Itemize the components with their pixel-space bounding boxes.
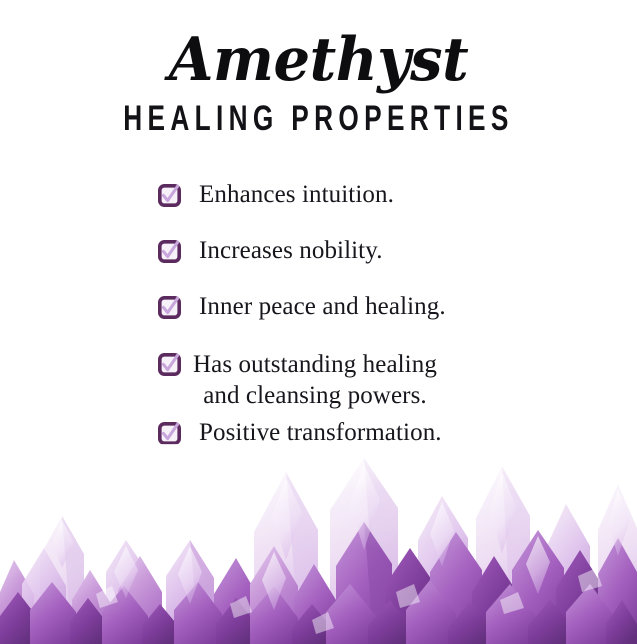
checked-checkbox-icon xyxy=(158,296,181,319)
list-item-label: Enhances intuition. xyxy=(199,180,394,210)
checked-checkbox-icon xyxy=(158,184,181,207)
checked-checkbox-icon xyxy=(158,422,181,445)
amethyst-crystal-cluster-illustration xyxy=(0,444,637,644)
list-item-label: Has outstanding healing and cleansing po… xyxy=(193,349,437,411)
poster-heading: Amethyst HEALING PROPERTIES xyxy=(0,28,637,134)
list-item: Inner peace and healing. xyxy=(0,292,637,322)
list-item: Enhances intuition. xyxy=(0,180,637,210)
list-item: Has outstanding healing and cleansing po… xyxy=(0,349,637,411)
amethyst-crystal-cluster xyxy=(0,444,637,644)
page-title: Amethyst xyxy=(13,28,625,92)
amethyst-healing-properties-poster: Amethyst HEALING PROPERTIES Enhances int… xyxy=(0,0,637,644)
checked-checkbox-icon xyxy=(158,240,181,263)
list-item-label: Increases nobility. xyxy=(199,236,383,266)
list-item: Increases nobility. xyxy=(0,236,637,266)
list-item-label: Inner peace and healing. xyxy=(199,292,446,322)
page-subtitle: HEALING PROPERTIES xyxy=(57,98,579,138)
checked-checkbox-icon xyxy=(158,353,181,376)
